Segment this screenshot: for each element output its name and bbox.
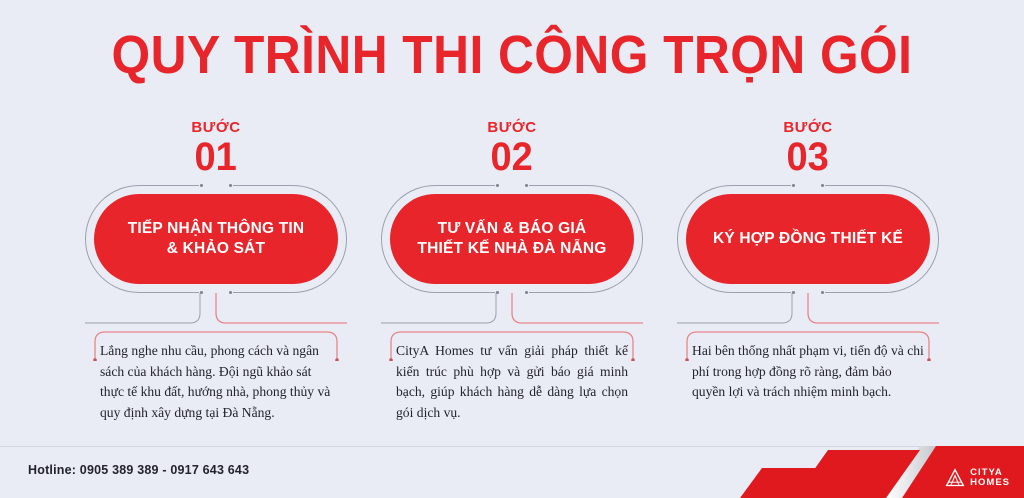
step-description-wrap-1: Lắng nghe nhu cầu, phong cách và ngân sá… xyxy=(90,327,342,424)
ring-dot-top-left-3 xyxy=(792,184,795,187)
step-number-3: 03 xyxy=(785,137,832,177)
brand-logo[interactable]: CITYA HOMES xyxy=(945,468,1010,488)
step-card-2[interactable]: TƯ VẤN & BÁO GIÁ THIẾT KẾ NHÀ ĐÀ NẴNG xyxy=(381,185,643,293)
logo-wordmark: CITYA HOMES xyxy=(970,468,1010,487)
step-word-2: BƯỚC xyxy=(487,120,536,135)
step-card-title-3: KÝ HỢP ĐỒNG THIẾT KẾ xyxy=(713,229,903,249)
step-description-wrap-2: CityA Homes tư vấn giải pháp thiết kế ki… xyxy=(386,327,638,424)
connector-svg-3 xyxy=(677,293,939,329)
connector-svg-1 xyxy=(85,293,347,329)
step-number-1: 01 xyxy=(193,137,240,177)
step-card-pill-2[interactable]: TƯ VẤN & BÁO GIÁ THIẾT KẾ NHÀ ĐÀ NẴNG xyxy=(390,194,634,284)
hotline-text: Hotline: 0905 389 389 - 0917 643 643 xyxy=(28,463,249,477)
step-word-1: BƯỚC xyxy=(191,120,240,135)
logo-line-2: HOMES xyxy=(970,478,1010,488)
footer-decoration: CITYA HOMES xyxy=(724,446,1024,498)
ring-gap-top-2 xyxy=(495,182,529,189)
step-card-pill-1[interactable]: TIẾP NHẬN THÔNG TIN & KHẢO SÁT xyxy=(94,194,338,284)
footer: Hotline: 0905 389 389 - 0917 643 643 xyxy=(0,446,1024,498)
logo-triangle-icon xyxy=(945,468,965,488)
page-title: QUY TRÌNH THI CÔNG TRỌN GÓI xyxy=(41,28,983,82)
ring-dot-top-left-1 xyxy=(200,184,203,187)
ring-dot-top-left-2 xyxy=(496,184,499,187)
step-column-2: BƯỚC 02 TƯ VẤN & BÁO GIÁ THIẾT KẾ NHÀ ĐÀ… xyxy=(364,120,660,450)
connector-3 xyxy=(677,293,939,329)
step-column-3: BƯỚC 03 KÝ HỢP ĐỒNG THIẾT KẾ xyxy=(660,120,956,450)
step-card-3[interactable]: KÝ HỢP ĐỒNG THIẾT KẾ xyxy=(677,185,939,293)
steps-container: BƯỚC 01 TIẾP NHẬN THÔNG TIN & KHẢO SÁT xyxy=(0,120,1024,450)
step-card-1[interactable]: TIẾP NHẬN THÔNG TIN & KHẢO SÁT xyxy=(85,185,347,293)
step-column-1: BƯỚC 01 TIẾP NHẬN THÔNG TIN & KHẢO SÁT xyxy=(68,120,364,450)
step-description-3: Hai bên thống nhất phạm vi, tiến độ và c… xyxy=(682,327,934,403)
ring-gap-top-3 xyxy=(791,182,825,189)
page-title-container: QUY TRÌNH THI CÔNG TRỌN GÓI xyxy=(0,28,1024,82)
ring-dot-top-right-1 xyxy=(229,184,232,187)
ring-dot-top-right-3 xyxy=(821,184,824,187)
ring-gap-top-1 xyxy=(199,182,233,189)
connector-2 xyxy=(381,293,643,329)
step-number-2: 02 xyxy=(489,137,536,177)
connector-1 xyxy=(85,293,347,329)
connector-svg-2 xyxy=(381,293,643,329)
step-card-title-2: TƯ VẤN & BÁO GIÁ THIẾT KẾ NHÀ ĐÀ NẴNG xyxy=(417,219,606,260)
step-card-pill-3[interactable]: KÝ HỢP ĐỒNG THIẾT KẾ xyxy=(686,194,930,284)
step-label-1: BƯỚC 01 xyxy=(191,120,240,177)
step-description-wrap-3: Hai bên thống nhất phạm vi, tiến độ và c… xyxy=(682,327,934,403)
step-description-2: CityA Homes tư vấn giải pháp thiết kế ki… xyxy=(386,327,638,424)
step-word-3: BƯỚC xyxy=(783,120,832,135)
step-card-title-1: TIẾP NHẬN THÔNG TIN & KHẢO SÁT xyxy=(128,219,305,260)
step-label-2: BƯỚC 02 xyxy=(487,120,536,177)
step-label-3: BƯỚC 03 xyxy=(783,120,832,177)
step-description-1: Lắng nghe nhu cầu, phong cách và ngân sá… xyxy=(90,327,342,424)
ring-dot-top-right-2 xyxy=(525,184,528,187)
